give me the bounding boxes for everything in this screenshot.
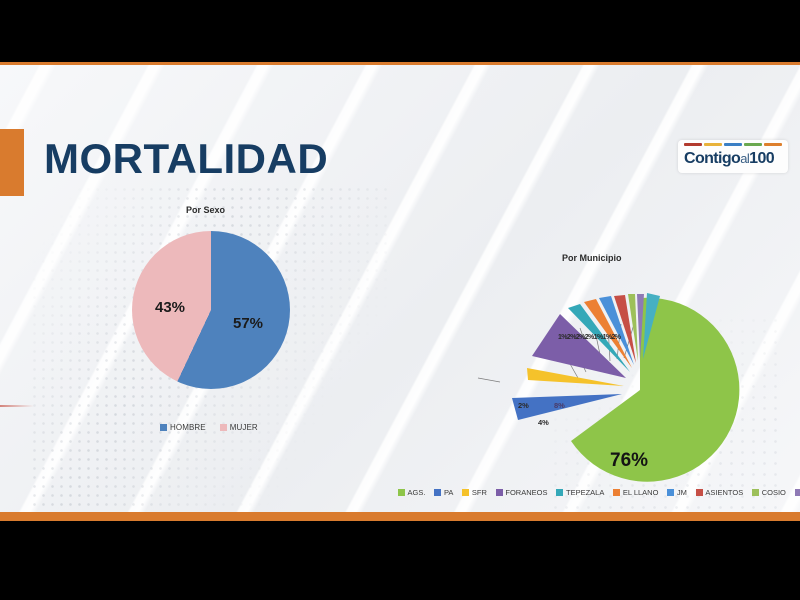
pie-chart-por-municipio-svg <box>470 260 800 510</box>
legend-swatch-mujer <box>220 424 227 431</box>
legend-swatch-el-llano <box>613 489 620 496</box>
legend-item-ags[interactable]: AGS. <box>398 488 425 497</box>
legend-label-cosio: COSIO <box>762 488 786 497</box>
legend-swatch-ags <box>398 489 405 496</box>
legend-label-asientos: ASIENTOS <box>705 488 743 497</box>
video-viewport: MORTALIDAD Contigoal100 Por Sexo 57% 43% <box>0 0 800 600</box>
legend-swatch-pa <box>434 489 441 496</box>
legend-item-cosio[interactable]: COSIO <box>752 488 786 497</box>
logo-word-100: 100 <box>749 150 774 167</box>
page-title: MORTALIDAD <box>44 135 328 183</box>
pie-slice-label-mujer: 43% <box>155 299 185 316</box>
logo-dash-3 <box>724 143 742 146</box>
logo-dash-5 <box>764 143 782 146</box>
logo-wordmark: Contigoal100 <box>684 148 782 170</box>
legend-item-asientos[interactable]: ASIENTOS <box>696 488 743 497</box>
legend-swatch-sfr <box>462 489 469 496</box>
legend-swatch-sjg <box>795 489 800 496</box>
legend-item-tepezala[interactable]: TEPEZALA <box>556 488 604 497</box>
pie-slice-label-pa: 4% <box>538 418 549 427</box>
legend-item-jm[interactable]: JM <box>667 488 687 497</box>
legend-item-pa[interactable]: PA <box>434 488 453 497</box>
slide-bottom-accent-rule <box>0 512 800 521</box>
legend-label-hombre: HOMBRE <box>170 423 206 432</box>
logo-dash-2 <box>704 143 722 146</box>
legend-swatch-hombre <box>160 424 167 431</box>
legend-label-pa: PA <box>444 488 453 497</box>
legend-item-foraneos[interactable]: FORANEOS <box>496 488 548 497</box>
legend-item-sjg[interactable]: SJG <box>795 488 800 497</box>
pie-chart-por-municipio: 76% 4% 2% 8% 1%2%2%2%1%1%2% <box>470 260 800 510</box>
legend-swatch-jm <box>667 489 674 496</box>
logo-dash-4 <box>744 143 762 146</box>
legend-label-sfr: SFR <box>472 488 487 497</box>
pie-slice-foraneos <box>532 314 626 378</box>
logo-dash-row <box>684 143 782 147</box>
legend-label-mujer: MUJER <box>230 423 258 432</box>
legend-item-hombre[interactable]: HOMBRE <box>160 423 206 432</box>
contigo-al-100-logo: Contigoal100 <box>678 140 788 173</box>
legend-swatch-foraneos <box>496 489 503 496</box>
legend-swatch-cosio <box>752 489 759 496</box>
orange-accent-block <box>0 129 24 196</box>
logo-word-contigo: Contigo <box>684 150 740 167</box>
legend-label-foraneos: FORANEOS <box>505 488 547 497</box>
pie-slice-ags <box>571 298 739 482</box>
logo-dash-1 <box>684 143 702 146</box>
legend-label-el-llano: EL LLANO <box>623 488 659 497</box>
red-tick-mark <box>0 405 34 407</box>
legend-item-el-llano[interactable]: EL LLANO <box>613 488 658 497</box>
pie-slice-label-ags: 76% <box>610 450 648 472</box>
presentation-slide: MORTALIDAD Contigoal100 Por Sexo 57% 43% <box>0 65 800 512</box>
pie-slice-label-hombre: 57% <box>233 315 263 332</box>
legend-por-sexo: HOMBRE MUJER <box>160 423 258 432</box>
legend-label-tepezala: TEPEZALA <box>566 488 604 497</box>
slide-frame: MORTALIDAD Contigoal100 Por Sexo 57% 43% <box>0 62 800 521</box>
chart-title-por-sexo: Por Sexo <box>186 205 225 215</box>
legend-label-jm: JM <box>677 488 687 497</box>
legend-label-ags: AGS. <box>408 488 426 497</box>
legend-swatch-asientos <box>696 489 703 496</box>
legend-por-municipio: AGS. PA SFR FORANEOS TEPEZALA <box>398 488 800 497</box>
legend-swatch-tepezala <box>556 489 563 496</box>
legend-item-sfr[interactable]: SFR <box>462 488 487 497</box>
pie-slice-label-sfr: 2% <box>518 401 529 410</box>
pie-tiny-label-row: 1%2%2%2%1%1%2% <box>558 334 620 341</box>
pie-slice-label-foraneos: 8% <box>554 401 565 410</box>
legend-item-mujer[interactable]: MUJER <box>220 423 258 432</box>
logo-word-al: al <box>740 151 749 166</box>
